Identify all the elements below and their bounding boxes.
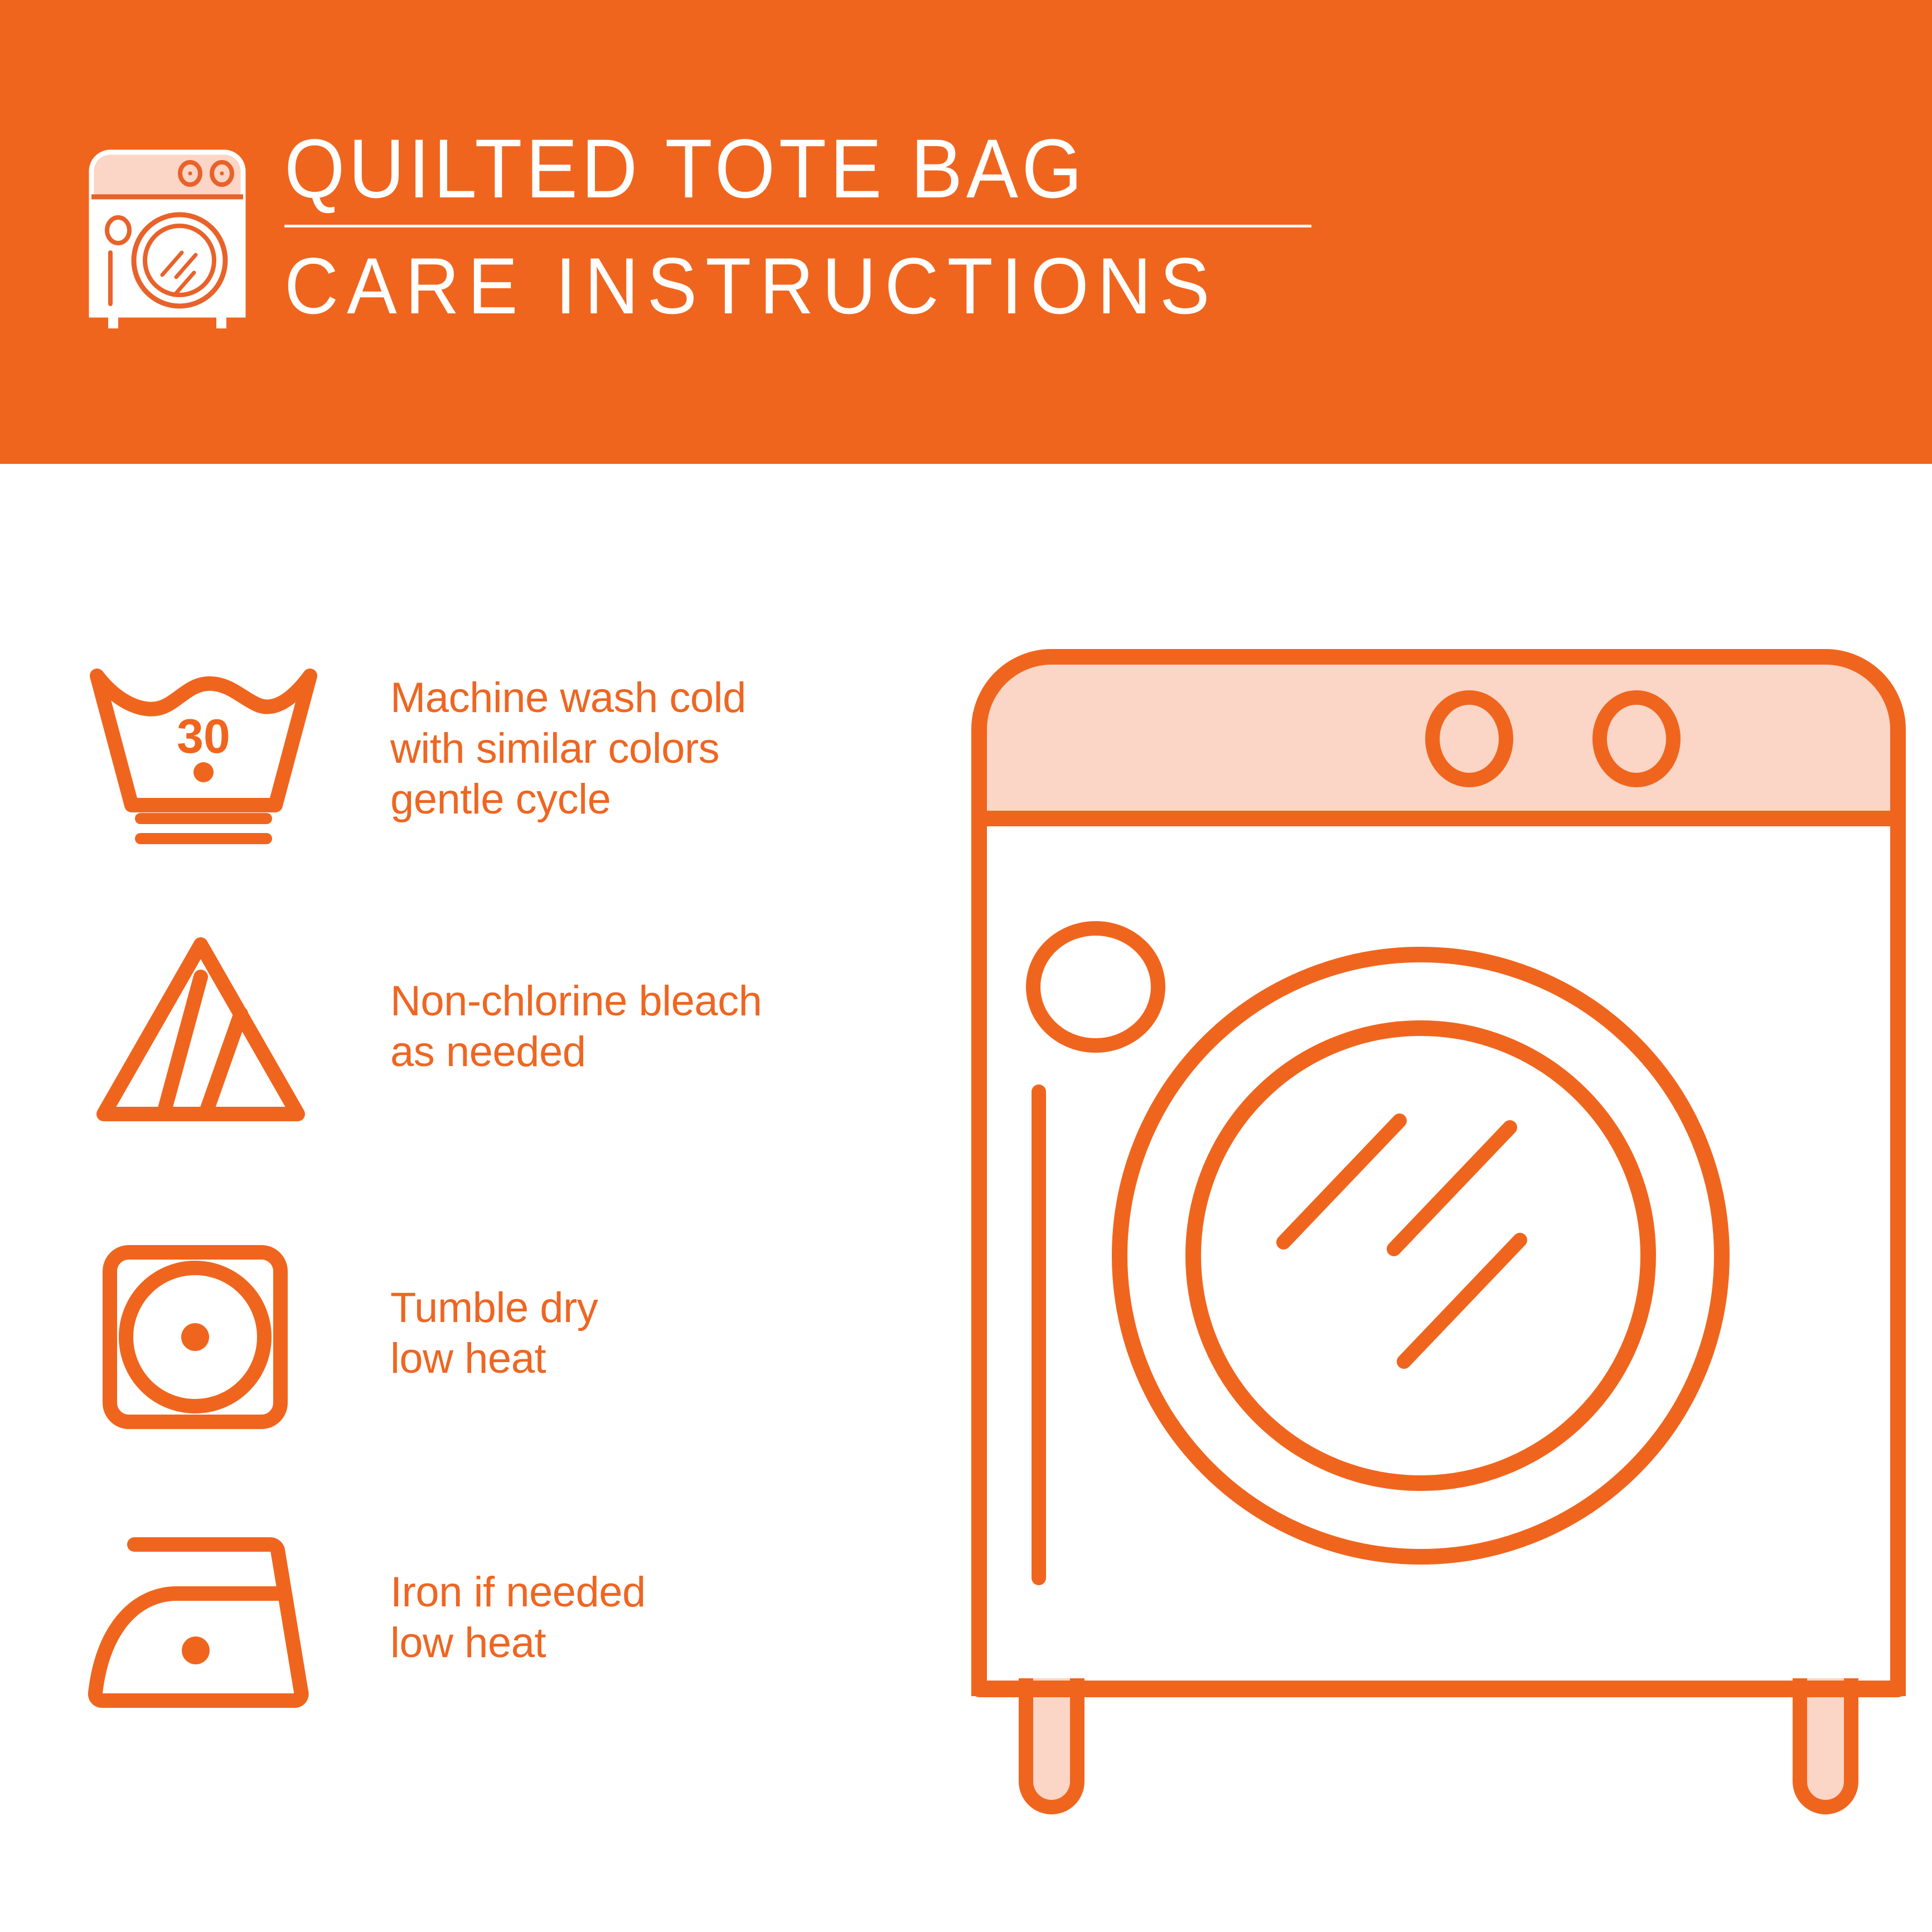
header-banner: QUILTED TOTE BAG CARE INSTRUCTIONS	[0, 0, 1932, 464]
iron-low-heat-symbol	[86, 1527, 309, 1711]
care-line: low heat	[390, 1333, 920, 1384]
care-line: low heat	[390, 1618, 920, 1668]
care-line: Iron if needed	[390, 1567, 920, 1618]
page-title: QUILTED TOTE BAG	[284, 127, 1316, 210]
care-line: as needed	[390, 1026, 920, 1077]
care-item-bleach-label: Non-chlorine bleach as needed	[390, 976, 920, 1077]
washing-machine-icon	[84, 137, 251, 326]
care-item-machine-wash-label: Machine wash cold with similar colors ge…	[390, 672, 920, 825]
page-subtitle: CARE INSTRUCTIONS	[284, 246, 1328, 326]
wash-tub-30-gentle-symbol: 30	[84, 653, 323, 849]
header-title-group: QUILTED TOTE BAG CARE INSTRUCTIONS	[284, 127, 1394, 326]
care-line: with similar colors	[390, 723, 920, 774]
care-line: Machine wash cold	[390, 672, 920, 723]
header-content: QUILTED TOTE BAG CARE INSTRUCTIONS	[84, 131, 1338, 337]
care-line: Non-chlorine bleach	[390, 976, 920, 1026]
title-divider	[284, 225, 1311, 227]
control-knob-left	[1432, 698, 1506, 780]
care-line: Tumble dry	[390, 1282, 920, 1333]
care-item-tumble-dry-label: Tumble dry low heat	[390, 1282, 920, 1384]
triangle-non-chlorine-bleach-symbol	[89, 930, 312, 1136]
wash-temperature-value: 30	[177, 710, 230, 763]
large-washing-machine-illustration	[948, 630, 1929, 1868]
care-item-iron-label: Iron if needed low heat	[390, 1567, 920, 1668]
machine-legs	[1026, 1678, 1851, 1807]
tumble-dry-low-heat-symbol	[98, 1242, 293, 1432]
control-knob-right	[1600, 698, 1673, 780]
care-line: gentle cycle	[390, 774, 920, 825]
